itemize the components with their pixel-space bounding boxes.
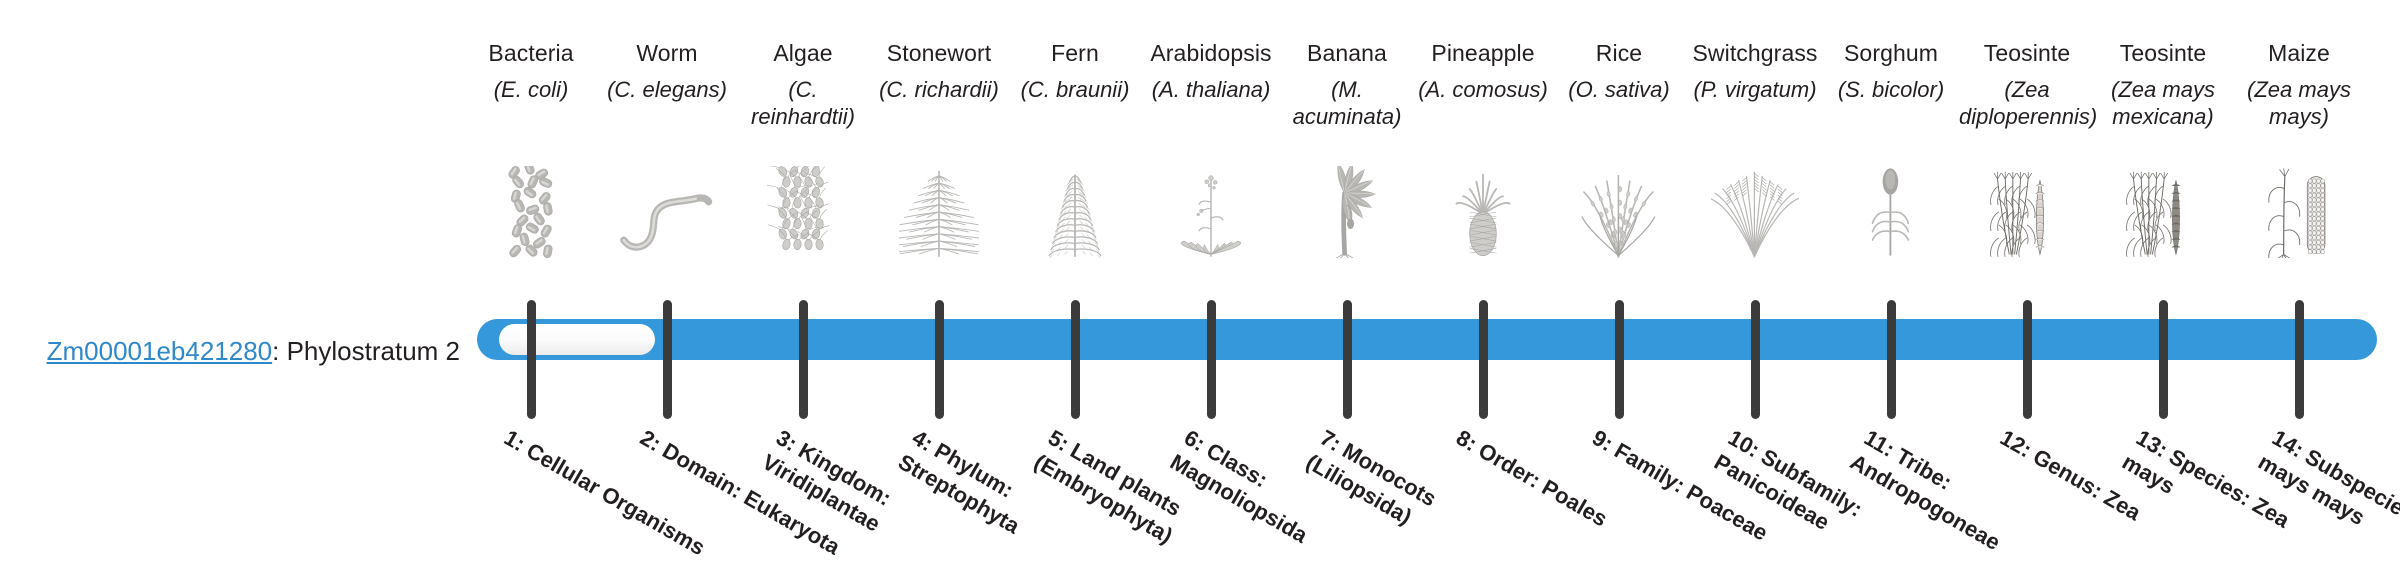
species-scientific-name: (C. richardii) [871,76,1007,103]
species-scientific-name: (Zea diploperennis) [1959,76,2095,130]
species-column: Bacteria(E. coli) [463,38,599,103]
species-common-name: Teosinte [2095,38,2231,68]
species-column: Teosinte(Zea mays mexicana) [2095,38,2231,130]
species-column: Stonewort(C. richardii) [871,38,1007,103]
stratum-rank-name: Order: Poales [1474,438,1611,532]
stratum-tick [2159,300,2168,419]
stratum-number: 8: [1452,425,1481,456]
species-common-name: Sorghum [1823,38,1959,68]
species-common-name: Switchgrass [1687,38,1823,68]
species-common-name: Fern [1007,38,1143,68]
fern-frond-icon [1007,166,1143,258]
stratum-tick [935,300,944,419]
phylostratum-bar-empty [499,324,655,355]
species-common-name: Algae [735,38,871,68]
arabidopsis-rosette-icon [1143,166,1279,258]
species-column: Banana(M. acuminata) [1279,38,1415,130]
species-common-name: Teosinte [1959,38,2095,68]
gene-phylostratum-label: Zm00001eb421280: Phylostratum 2 [0,336,460,367]
stratum-number: 2: [636,425,665,456]
species-scientific-name: (Zea mays mexicana) [2095,76,2231,130]
stratum-number: 12: [1996,425,2036,463]
stonewort-alga-icon [871,166,1007,258]
species-column: Switchgrass(P. virgatum) [1687,38,1823,103]
stratum-tick [1887,300,1896,419]
stratum-number: 9: [1588,425,1617,456]
species-column: Arabidopsis(A. thaliana) [1143,38,1279,103]
species-scientific-name: (S. bicolor) [1823,76,1959,103]
pineapple-fruit-icon [1415,166,1551,258]
species-scientific-name: (A. comosus) [1415,76,1551,103]
stratum-tick [663,300,672,419]
species-column: Maize(Zea mays mays) [2231,38,2367,130]
species-scientific-name: (C. elegans) [599,76,735,103]
stratum-tick [1343,300,1352,419]
species-common-name: Maize [2231,38,2367,68]
nematode-worm-icon [599,166,735,258]
stratum-tick [1071,300,1080,419]
species-common-name: Banana [1279,38,1415,68]
stratum-tick [1751,300,1760,419]
species-common-name: Rice [1551,38,1687,68]
species-common-name: Worm [599,38,735,68]
species-column: Fern(C. braunii) [1007,38,1143,103]
phylostratigraphy-figure: Zm00001eb421280: Phylostratum 2 Bacteria… [0,0,2400,580]
species-scientific-name: (P. virgatum) [1687,76,1823,103]
teosinte-plant-ear-icon [1959,166,2095,258]
stratum-tick [1207,300,1216,419]
switchgrass-clump-icon [1687,166,1823,258]
stratum-tick [2295,300,2304,419]
species-column: Algae(C. reinhardtii) [735,38,871,130]
species-header-row: Bacteria(E. coli) [463,38,2367,308]
species-scientific-name: (A. thaliana) [1143,76,1279,103]
stratum-label-row: 1: Cellular Organisms2: Domain: Eukaryot… [463,424,2367,580]
species-scientific-name: (C. braunii) [1007,76,1143,103]
stratum-tick [2023,300,2032,419]
stratum-tick [1479,300,1488,419]
gene-id-link[interactable]: Zm00001eb421280 [47,336,273,366]
teosinte-mexicana-ear-icon [2095,166,2231,258]
stratum-tick [799,300,808,419]
species-scientific-name: (O. sativa) [1551,76,1687,103]
banana-plant-icon [1279,166,1415,258]
species-column: Sorghum(S. bicolor) [1823,38,1959,103]
green-algae-cells-icon [735,166,871,258]
species-column: Rice(O. sativa) [1551,38,1687,103]
species-scientific-name: (Zea mays mays) [2231,76,2367,130]
species-common-name: Arabidopsis [1143,38,1279,68]
sorghum-panicle-icon [1823,166,1959,258]
phylostratum-track [463,300,2367,420]
stratum-tick [527,300,536,419]
rice-plant-icon [1551,166,1687,258]
species-column: Teosinte(Zea diploperennis) [1959,38,2095,130]
stratum-tick [1615,300,1624,419]
species-scientific-name: (M. acuminata) [1279,76,1415,130]
species-common-name: Pineapple [1415,38,1551,68]
bacteria-rods-icon [463,166,599,258]
species-scientific-name: (C. reinhardtii) [735,76,871,130]
stratum-number: 1: [500,425,529,456]
species-column: Worm(C. elegans) [599,38,735,103]
gene-phylostratum-value: Phylostratum 2 [287,336,460,366]
species-column: Pineapple(A. comosus) [1415,38,1551,103]
gene-label-separator: : [272,336,286,366]
species-common-name: Stonewort [871,38,1007,68]
species-scientific-name: (E. coli) [463,76,599,103]
maize-plant-cob-icon [2231,166,2367,258]
species-common-name: Bacteria [463,38,599,68]
phylostratum-bar-filled [477,319,2377,360]
